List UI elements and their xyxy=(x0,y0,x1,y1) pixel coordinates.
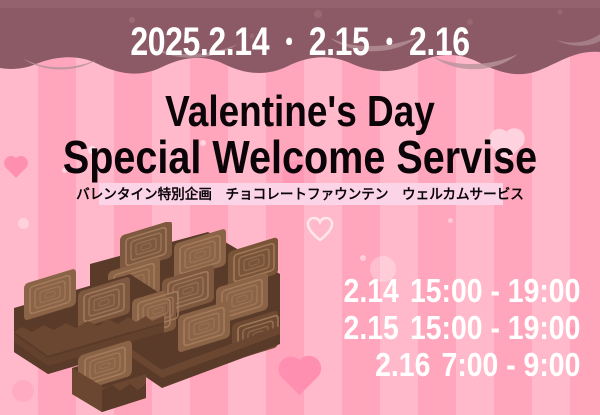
schedule-row: 2.1515:00 - 19:00 xyxy=(343,309,580,346)
schedule-time: 7:00 - 9:00 xyxy=(441,346,580,383)
subtitle-japanese: バレンタイン特別企画 チョコレートファウンテン ウェルカムサービス xyxy=(9,184,591,204)
schedule-row: 2.167:00 - 9:00 xyxy=(343,346,580,383)
schedule-day: 2.14 xyxy=(343,272,398,309)
event-schedule-list: 2.1415:00 - 19:00 2.1515:00 - 19:00 2.16… xyxy=(305,272,580,383)
schedule-day: 2.16 xyxy=(375,346,430,383)
heart-icon xyxy=(6,156,26,176)
page-title-line-1: Valentine's Day xyxy=(48,90,552,134)
schedule-row: 2.1415:00 - 19:00 xyxy=(343,272,580,309)
page-title-line-2: Special Welcome Servise xyxy=(42,134,558,180)
event-date-header: 2025.2.14・2.15・2.16 xyxy=(60,22,540,62)
date-tertiary: 2.16 xyxy=(409,20,470,64)
date-secondary: 2.15 xyxy=(309,20,370,64)
schedule-time: 15:00 - 19:00 xyxy=(410,272,580,309)
date-primary: 2025.2.14 xyxy=(130,20,269,64)
schedule-day: 2.15 xyxy=(343,309,398,346)
date-separator: ・ xyxy=(369,27,409,60)
chocolate-bar-illustration xyxy=(12,222,280,415)
valentines-day-poster: 2025.2.14・2.15・2.16 Valentine's Day Spec… xyxy=(0,0,600,415)
schedule-time: 15:00 - 19:00 xyxy=(410,309,580,346)
date-separator: ・ xyxy=(269,27,309,60)
